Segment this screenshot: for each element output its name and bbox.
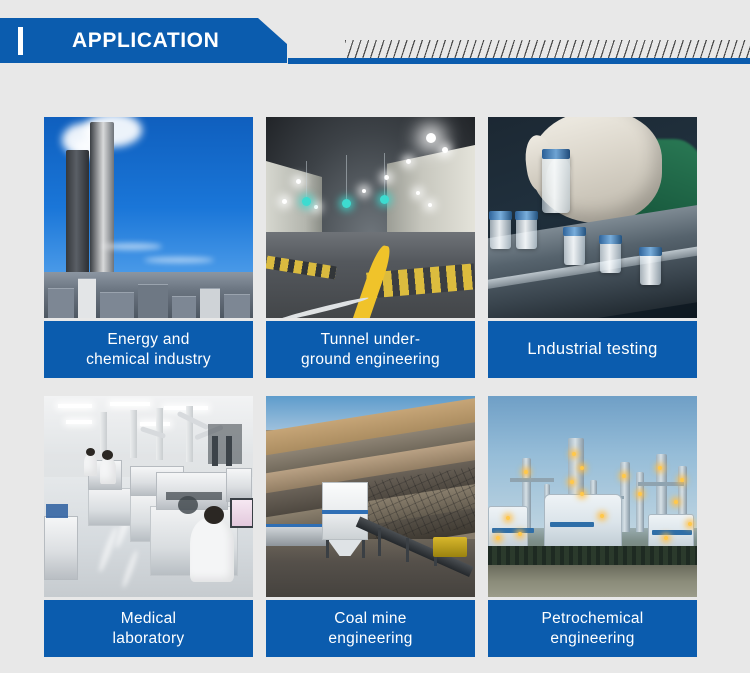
card-caption-coal-mine: Coal mine engineering (266, 600, 475, 657)
page-title: APPLICATION (72, 18, 219, 63)
application-card-energy-chemical[interactable]: Energy and chemical industry (44, 117, 253, 378)
card-caption-petrochemical: Petrochemical engineering (488, 600, 697, 657)
photo-power-plant (44, 117, 253, 318)
photo-vial-inspection (488, 117, 697, 318)
diagonal-stripes-decoration (345, 40, 750, 59)
card-caption-medical-laboratory: Medical laboratory (44, 600, 253, 657)
card-caption-industrial-testing: Lndustrial testing (488, 321, 697, 378)
application-grid: Energy and chemical industry (44, 117, 698, 657)
header-underline-bar (288, 58, 750, 64)
application-card-petrochemical[interactable]: Petrochemical engineering (488, 396, 697, 657)
photo-petrochemical-refinery (488, 396, 697, 597)
application-row-2: Medical laboratory (44, 396, 698, 657)
card-caption-tunnel-underground: Tunnel under- ground engineering (266, 321, 475, 378)
application-card-tunnel-underground[interactable]: Tunnel under- ground engineering (266, 117, 475, 378)
application-card-coal-mine[interactable]: Coal mine engineering (266, 396, 475, 657)
photo-highway-tunnel (266, 117, 475, 318)
card-caption-energy-chemical: Energy and chemical industry (44, 321, 253, 378)
application-row-1: Energy and chemical industry (44, 117, 698, 378)
photo-open-pit-mine (266, 396, 475, 597)
application-card-industrial-testing[interactable]: Lndustrial testing (488, 117, 697, 378)
header-accent-bar (18, 27, 23, 55)
application-card-medical-laboratory[interactable]: Medical laboratory (44, 396, 253, 657)
photo-medical-laboratory (44, 396, 253, 597)
application-header: APPLICATION (0, 18, 750, 63)
